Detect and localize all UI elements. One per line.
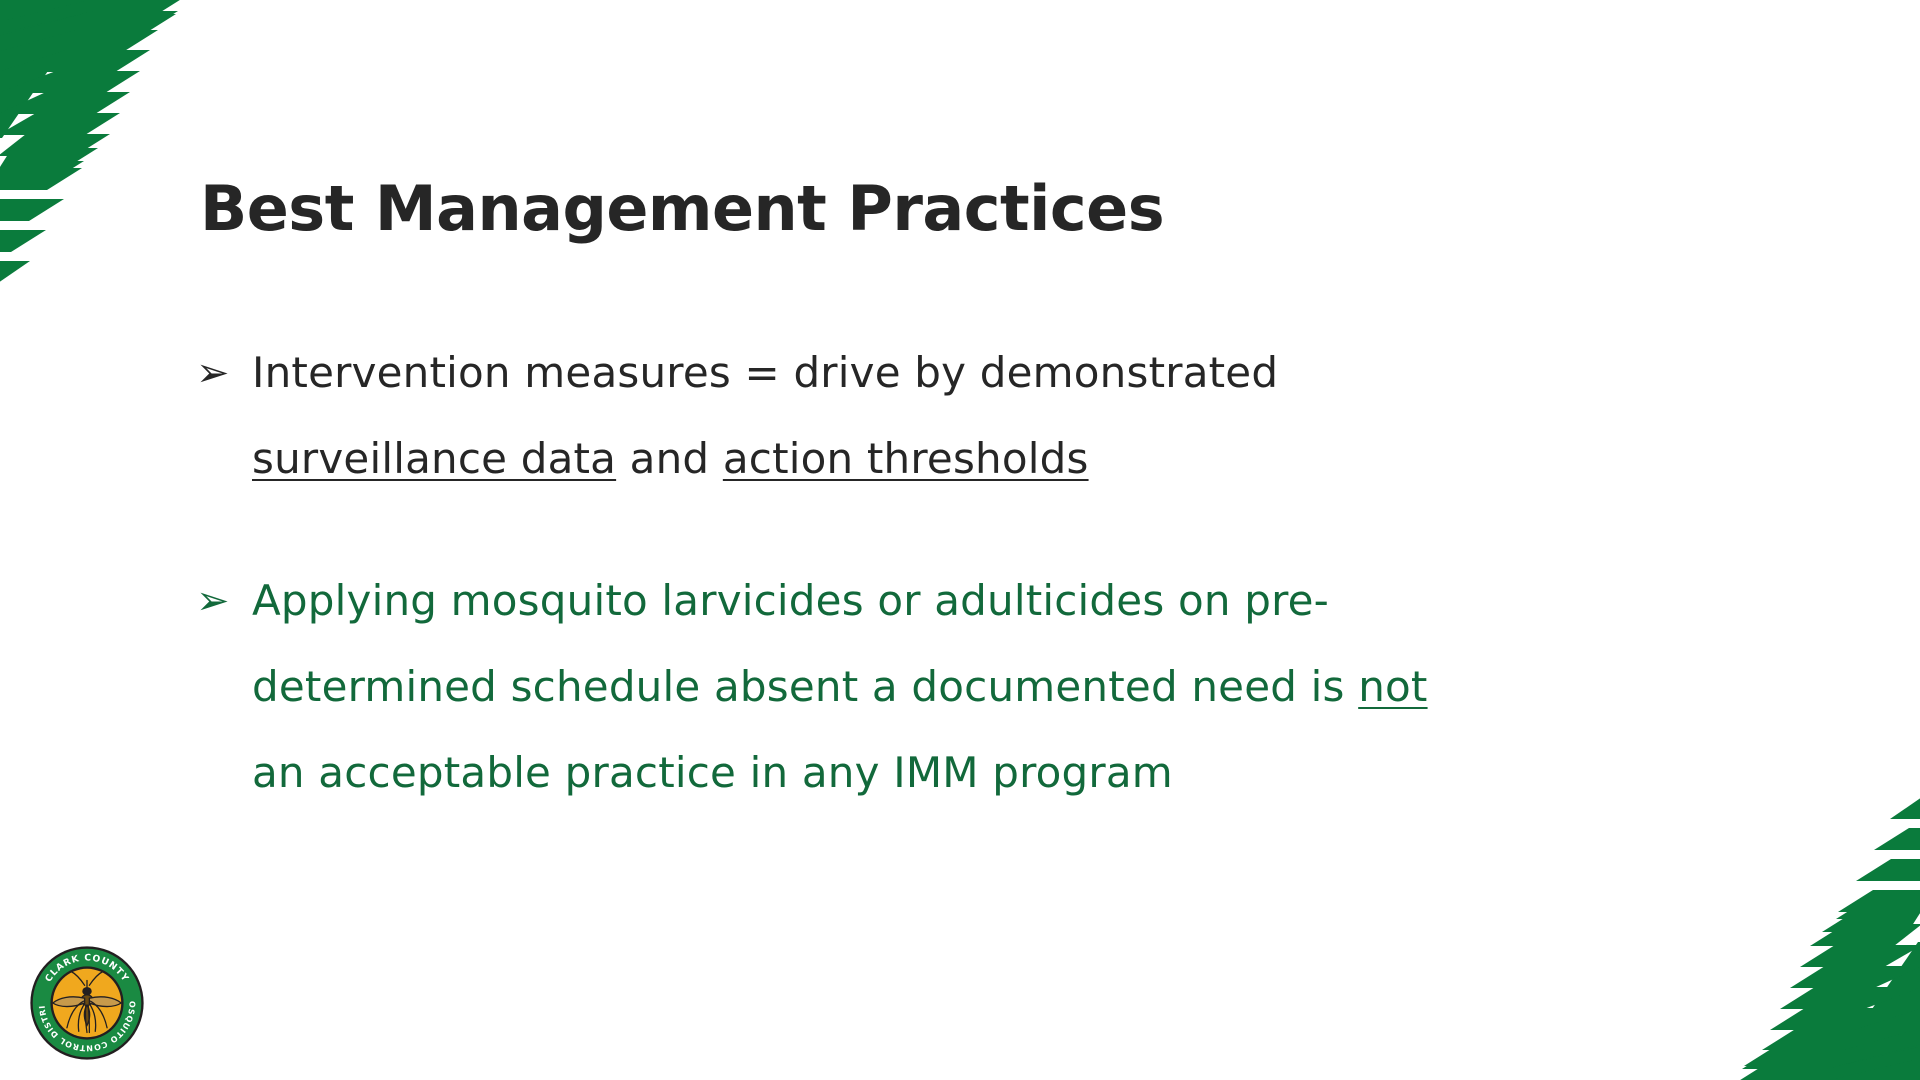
clark-county-mosquito-control-district-logo: CLARK COUNTY MOSQUITO CONTROL DISTRICT [28,944,146,1062]
bullet-2-line-2: determined schedule absent a documented … [252,644,1836,730]
bullet-1-line-1: Intervention measures = drive by demonst… [252,330,1836,416]
bullet-item-1: ➢ Intervention measures = drive by demon… [196,330,1836,502]
bullet-list: ➢ Intervention measures = drive by demon… [196,330,1836,816]
page-title: Best Management Practices [200,175,1164,243]
bullet-item-2: ➢ Applying mosquito larvicides or adulti… [196,558,1836,816]
bullet-1-line-2: surveillance data and action thresholds [252,416,1836,502]
diagonal-stripes-bottom-right-decoration [1682,782,1920,1080]
slide-canvas: Best Management Practices ➢ Intervention… [0,0,1920,1080]
bullet-2-line-3-seg-1: an acceptable practice in any IMM progra… [252,748,1173,797]
bullet-item-2-text: Applying mosquito larvicides or adultici… [252,558,1836,816]
bullet-2-line-2-seg-1: determined schedule absent a documented … [252,662,1358,711]
surveillance-data-emphasis: surveillance data [252,434,616,483]
bullet-item-1-text: Intervention measures = drive by demonst… [252,330,1836,502]
bullet-1-line-2-conjunction: and [616,434,723,483]
arrowhead-bullet-icon: ➢ [196,330,252,416]
diagonal-stripes-top-left-decoration [0,0,238,298]
bullet-2-line-1-seg-1: Applying mosquito larvicides or adultici… [252,576,1329,625]
bullet-2-line-3: an acceptable practice in any IMM progra… [252,730,1836,816]
action-thresholds-emphasis: action thresholds [723,434,1089,483]
bullet-2-line-1: Applying mosquito larvicides or adultici… [252,558,1836,644]
arrowhead-bullet-icon: ➢ [196,558,252,644]
not-emphasis: not [1358,662,1427,711]
bullet-1-line-1-seg-1: Intervention measures = drive by demonst… [252,348,1278,397]
